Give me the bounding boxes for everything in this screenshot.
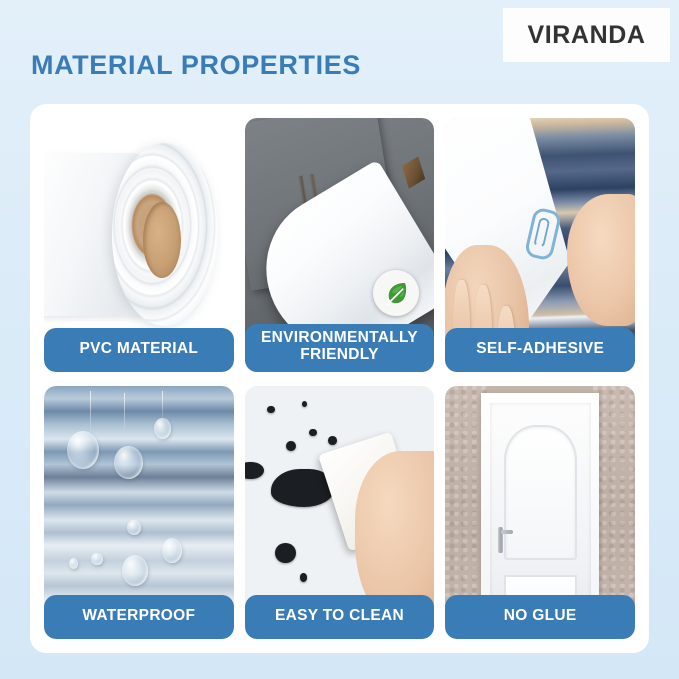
pvc-cardboard-core (143, 202, 181, 278)
door-frame (481, 393, 599, 629)
feature-label-pvc-material: PVC MATERIAL (44, 328, 234, 372)
water-droplet (162, 538, 183, 563)
water-droplet (114, 446, 142, 479)
page-title: MATERIAL PROPERTIES (31, 50, 361, 81)
stain-streak-edge (245, 462, 264, 480)
feature-cell-easy-to-clean[interactable]: EASY TO CLEAN (245, 386, 435, 640)
brand-logo-text: VIRANDA (527, 21, 645, 50)
water-droplet (91, 553, 102, 566)
water-droplet (67, 431, 99, 469)
feature-label-line-2: FRIENDLY (300, 346, 378, 363)
feature-cell-environmentally-friendly[interactable]: ENVIRONMENTALLY FRIENDLY (245, 118, 435, 372)
feature-cell-pvc-material[interactable]: PVC MATERIAL (44, 118, 234, 372)
right-hand-shape (567, 194, 635, 326)
feature-cell-self-adhesive[interactable]: SELF-ADHESIVE (445, 118, 635, 372)
water-droplet (122, 555, 149, 585)
stain-spot (275, 543, 296, 563)
feature-label-waterproof: WATERPROOF (44, 595, 234, 639)
infographic-poster: VIRANDA MATERIAL PROPERTIES PVC MATERIAL (0, 0, 679, 679)
feature-label-environmentally-friendly: ENVIRONMENTALLY FRIENDLY (245, 324, 435, 371)
stain-spot (286, 441, 295, 451)
drop-trail (162, 391, 164, 419)
leaf-icon (373, 270, 419, 316)
water-droplet (154, 418, 171, 438)
water-droplet (127, 520, 140, 535)
stain-spot (267, 406, 275, 414)
stain-spot (328, 436, 337, 445)
eco-roll-tip (402, 156, 425, 188)
feature-cell-waterproof[interactable]: WATERPROOF (44, 386, 234, 640)
feature-cell-no-glue[interactable]: NO GLUE (445, 386, 635, 640)
feature-grid: PVC MATERIAL ENVIRONMENTALLY (30, 104, 649, 653)
water-droplet (69, 558, 78, 569)
feature-label-line-1: ENVIRONMENTALLY (261, 329, 418, 346)
drop-trail (90, 391, 92, 432)
stain-spot (300, 573, 308, 582)
stain-spot (309, 429, 317, 437)
drop-trail (124, 393, 126, 428)
feature-label-easy-to-clean: EASY TO CLEAN (245, 595, 435, 639)
brand-logo: VIRANDA (503, 8, 670, 62)
door-upper-panel (504, 425, 577, 560)
feature-label-no-glue: NO GLUE (445, 595, 635, 639)
feature-label-self-adhesive: SELF-ADHESIVE (445, 328, 635, 372)
stain-spot (302, 401, 308, 407)
door-handle (498, 527, 503, 553)
